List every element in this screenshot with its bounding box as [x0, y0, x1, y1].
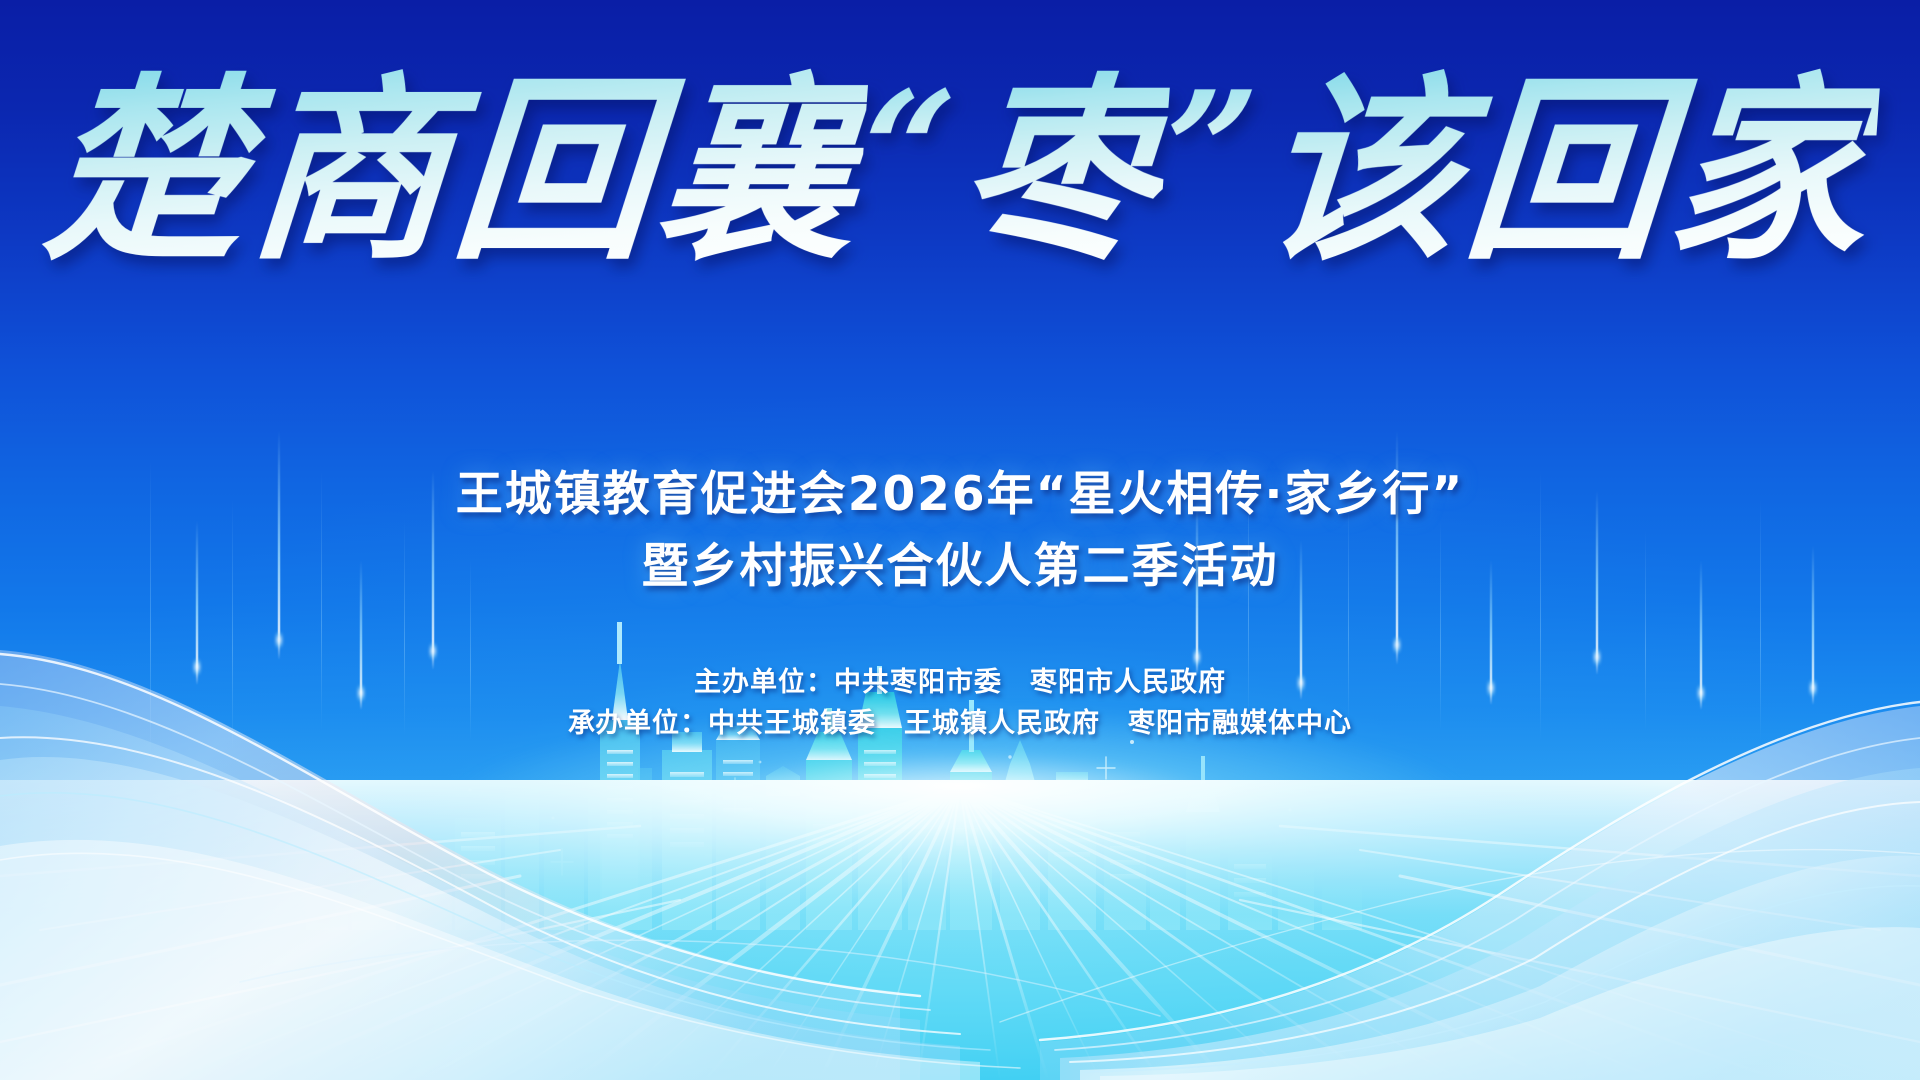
flowing-wave-ribbons	[0, 610, 1920, 1080]
event-poster: 楚商回襄 “ 枣 ” 该回家 王城镇教育促进会2026年“星火相传·家乡行” 暨…	[0, 0, 1920, 1080]
